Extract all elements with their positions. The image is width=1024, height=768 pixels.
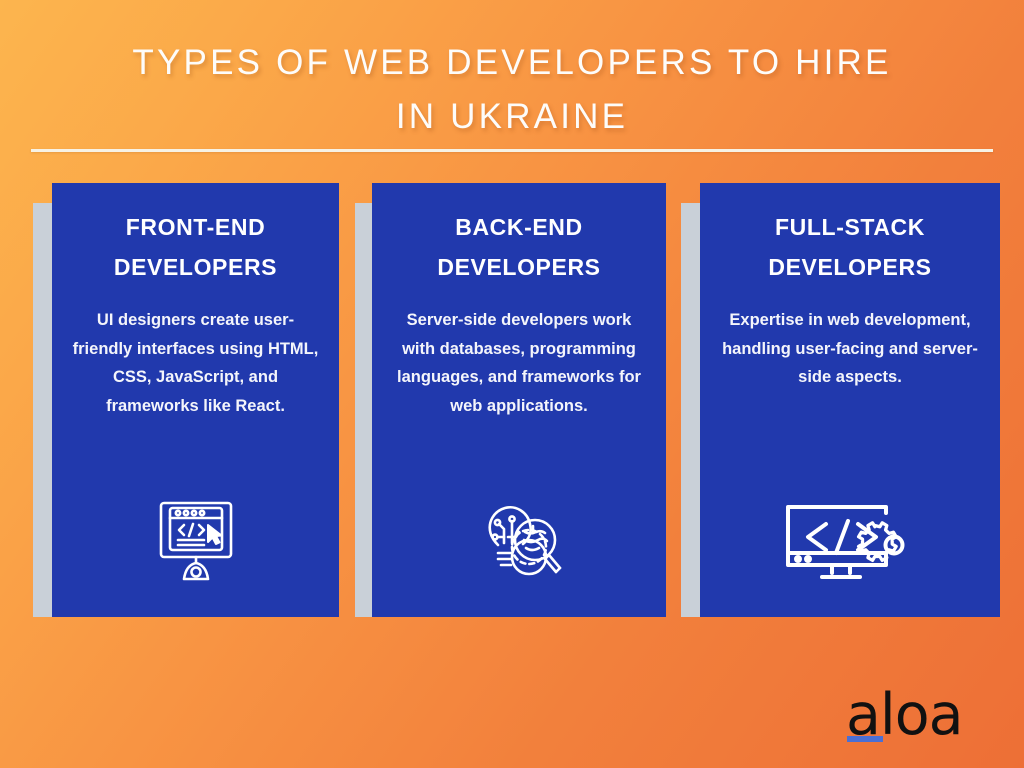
card-body-text: Server-side developers work with databas… [388,306,650,420]
lightbulb-gear-magnifier-icon [471,499,567,583]
card-panel[interactable]: FRONT-END DEVELOPERS UI designers create… [52,183,339,617]
card-body-text: Expertise in web development, handling u… [716,306,984,392]
monitor-code-cursor-icon [148,499,244,583]
card-grid: FRONT-END DEVELOPERS UI designers create… [0,0,1024,768]
card-title: BACK-END DEVELOPERS [437,207,600,287]
aloa-logo[interactable]: aloa [846,687,976,749]
card-title: FRONT-END DEVELOPERS [114,207,277,287]
card-front-end-developers[interactable]: FRONT-END DEVELOPERS UI designers create… [33,183,339,619]
card-title: FULL-STACK DEVELOPERS [768,207,931,287]
card-full-stack-developers[interactable]: FULL-STACK DEVELOPERS Expertise in web d… [681,183,1000,619]
card-back-end-developers[interactable]: BACK-END DEVELOPERS Server-side develope… [355,183,666,619]
logo-underline-accent [847,736,883,742]
monitor-code-gear-icon [782,503,918,583]
logo-wordmark: aloa [846,687,976,743]
card-body-text: UI designers create user-friendly interf… [68,306,323,420]
card-panel[interactable]: BACK-END DEVELOPERS Server-side develope… [372,183,666,617]
card-panel[interactable]: FULL-STACK DEVELOPERS Expertise in web d… [700,183,1000,617]
